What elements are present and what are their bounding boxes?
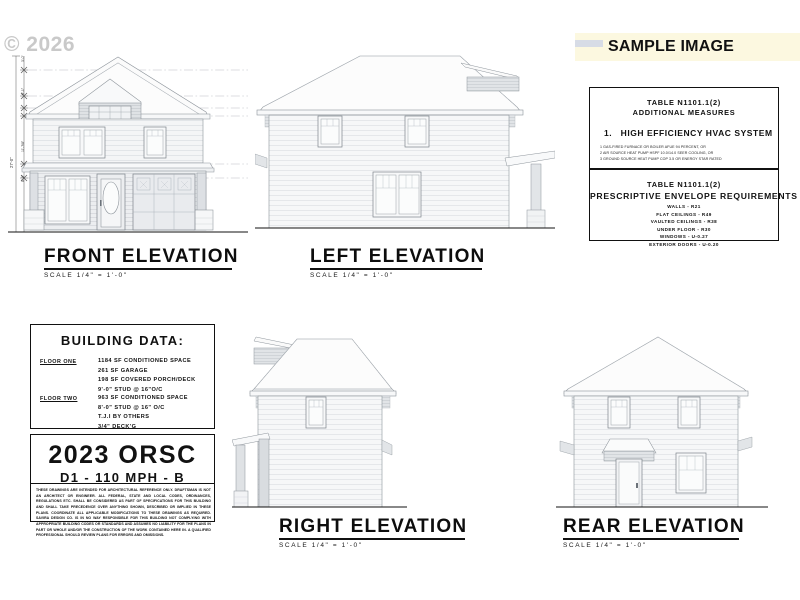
envelope-req: FLAT CEILINGS - R49: [590, 211, 778, 219]
right-elevation-label: RIGHT ELEVATION SCALE 1/4" = 1'-0": [279, 516, 465, 549]
left-elevation-scale: SCALE 1/4" = 1'-0": [310, 272, 482, 279]
right-elevation-title: RIGHT ELEVATION: [279, 516, 465, 538]
measure-item-1: 1. HIGH EFFICIENCY HVAC SYSTEM: [604, 123, 773, 141]
table-additional-measures: TABLE N1101.1(2) ADDITIONAL MEASURES 1. …: [589, 87, 779, 169]
envelope-req: VAULTED CEILINGS - R38: [590, 218, 778, 226]
envelope-req: WALLS - R21: [590, 203, 778, 211]
measure-item-number: 1.: [604, 128, 612, 138]
building-data-line: 8'-0" STUD @ 16" O/C: [98, 404, 188, 414]
dim-segment: 11'-7/8": [21, 141, 25, 152]
building-data-key-floor-one: FLOOR ONE: [40, 359, 77, 365]
disclaimer-text: THESE DRAWINGS ARE INTENDED FOR ARCHITEC…: [36, 488, 211, 539]
table-envelope-name: PRESCRIPTIVE ENVELOPE REQUIREMENTS: [590, 190, 778, 202]
dim-segment: 8'-0": [21, 175, 25, 182]
building-data-title: BUILDING DATA:: [31, 333, 214, 348]
building-data-line: 963 SF CONDITIONED SPACE: [98, 394, 188, 404]
building-data-line: 198 SF COVERED PORCH/DECK: [98, 376, 196, 386]
envelope-req: EXTERIOR DOORS - U-0.20: [590, 241, 778, 249]
measure-note-3: 3 GROUND SOURCE HEAT PUMP COP 3.5 OR ENE…: [600, 157, 722, 163]
building-data-lines-floor-two: 963 SF CONDITIONED SPACE 8'-0" STUD @ 16…: [98, 394, 188, 432]
building-data-line: 3/4" DECK'G: [98, 423, 188, 433]
sample-image-text: SAMPLE IMAGE: [608, 38, 734, 56]
right-elevation-drawing: [232, 335, 522, 515]
building-data-lines-floor-one: 1184 SF CONDITIONED SPACE 261 SF GARAGE …: [98, 357, 196, 395]
label-underline: [279, 538, 465, 540]
banner-accent-bar: [575, 40, 603, 47]
rear-elevation-scale: SCALE 1/4" = 1'-0": [563, 542, 739, 549]
front-elevation-title: FRONT ELEVATION: [44, 246, 232, 268]
building-data-line: 1184 SF CONDITIONED SPACE: [98, 357, 196, 367]
rear-elevation-drawing: [530, 335, 790, 515]
label-underline: [44, 268, 232, 270]
drawing-sheet: 27'-0" 8'-1" 8'-0" 11'-7/8" 3'-0": [0, 0, 800, 600]
rear-elevation-title: REAR ELEVATION: [563, 516, 739, 538]
measure-item-label: HIGH EFFICIENCY HVAC SYSTEM: [621, 128, 773, 138]
code-year: 2023 ORSC: [31, 441, 214, 470]
table-additional-measures-name: ADDITIONAL MEASURES: [590, 108, 778, 119]
wind-exposure: D1 - 110 MPH - B: [31, 470, 214, 485]
envelope-req: WINDOWS - U-0.27: [590, 233, 778, 241]
left-elevation-label: LEFT ELEVATION SCALE 1/4" = 1'-0": [310, 246, 482, 279]
right-elevation-scale: SCALE 1/4" = 1'-0": [279, 542, 465, 549]
top-margin: [0, 0, 800, 30]
label-underline: [563, 538, 739, 540]
table-envelope-requirements: TABLE N1101.1(2) PRESCRIPTIVE ENVELOPE R…: [589, 169, 779, 241]
envelope-requirements-list: WALLS - R21 FLAT CEILINGS - R49 VAULTED …: [590, 203, 778, 248]
measure-note-1: 1 GAS-FIRED FURNACE OR BOILER AFUE 94 PE…: [600, 145, 706, 151]
measure-note-2: 2 AIR SOURCE HEAT PUMP HSPF 10.0/14.0 SE…: [600, 151, 713, 157]
envelope-req: UNDER FLOOR - R30: [590, 226, 778, 234]
building-data-line: T.J.I BY OTHERS: [98, 413, 188, 423]
disclaimer-box: THESE DRAWINGS ARE INTENDED FOR ARCHITEC…: [30, 484, 215, 522]
building-data-box: BUILDING DATA: FLOOR ONE 1184 SF CONDITI…: [30, 324, 215, 429]
building-data-key-floor-two: FLOOR TWO: [40, 396, 77, 402]
left-elevation-title: LEFT ELEVATION: [310, 246, 482, 268]
copyright-watermark: © 2026: [4, 33, 75, 57]
label-underline: [310, 268, 482, 270]
building-data-line: 261 SF GARAGE: [98, 367, 196, 377]
left-elevation-drawing: [255, 46, 555, 246]
rear-elevation-label: REAR ELEVATION SCALE 1/4" = 1'-0": [563, 516, 739, 549]
dim-overall: 27'-0": [9, 157, 14, 168]
code-block-box: 2023 ORSC D1 - 110 MPH - B: [30, 434, 215, 484]
front-elevation-label: FRONT ELEVATION SCALE 1/4" = 1'-0": [44, 246, 232, 279]
front-elevation-scale: SCALE 1/4" = 1'-0": [44, 272, 232, 279]
sample-image-banner: SAMPLE IMAGE: [575, 33, 800, 61]
dim-segment: 8'-1": [21, 88, 25, 95]
front-elevation-drawing: [0, 46, 250, 246]
